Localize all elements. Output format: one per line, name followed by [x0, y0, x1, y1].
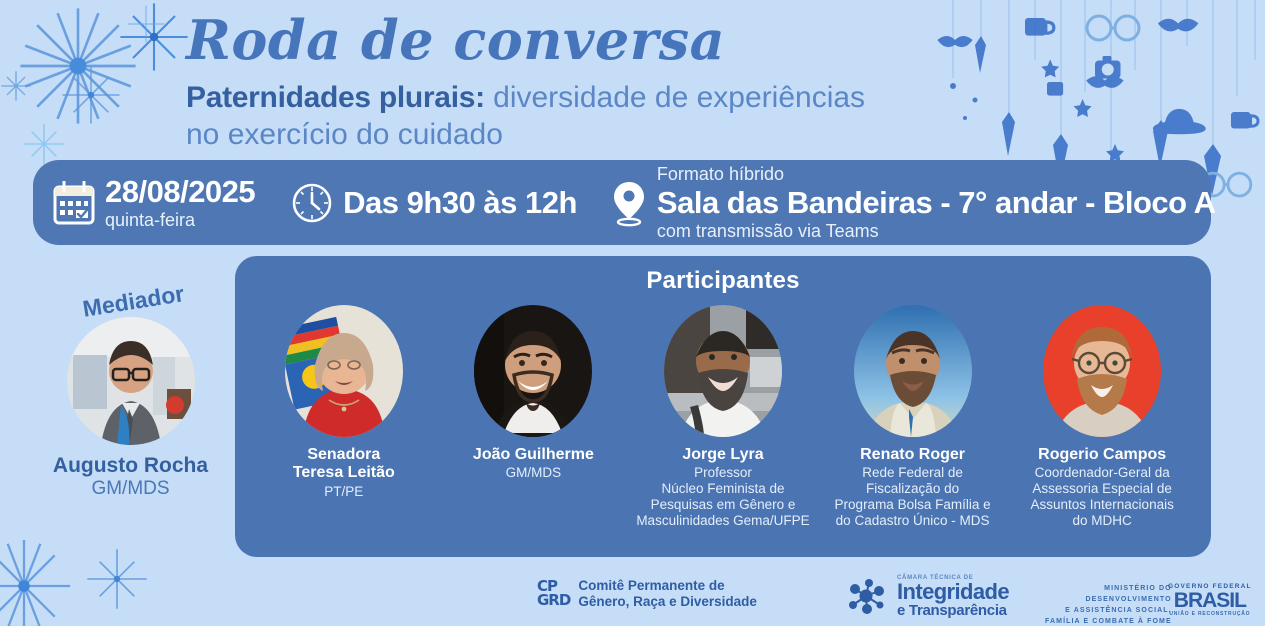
sparkle-icon [0, 538, 72, 626]
place-block: Formato híbrido Sala das Bandeiras - 7° … [611, 164, 1216, 242]
logo-integridade: CÂMARA TÉCNICA DE Integridade e Transpar… [845, 575, 1009, 618]
logo-ministerio: MINISTÉRIO DO DESENVOLVIMENTO E ASSISTÊN… [1045, 584, 1172, 626]
event-info-bar: 28/08/2025 quinta-feira Das 9h30 às 12h [33, 160, 1211, 245]
mustache-icon [937, 36, 972, 47]
event-broadcast: com transmissão via Teams [657, 221, 1216, 242]
mustache-icon [1158, 19, 1199, 32]
sparkle-icon [18, 6, 138, 126]
subtitle-rest: diversidade de experiências [485, 81, 865, 114]
date-block: 28/08/2025 quinta-feira [53, 174, 255, 231]
star-icon [1041, 59, 1059, 77]
logo-cpgrd: CP GRD Comitê Permanente de Gênero, Raça… [537, 578, 757, 610]
participant-name: Renato Roger [823, 446, 1003, 464]
calendar-icon [53, 181, 95, 225]
event-date: 28/08/2025 [105, 174, 255, 210]
mediator-role: GM/MDS [28, 478, 233, 500]
mug-icon [1025, 18, 1054, 36]
cpgrd-text: Comitê Permanente de Gênero, Raça e Dive… [578, 578, 757, 610]
star-icon [1074, 99, 1092, 117]
participant-card: Renato Roger Rede Federal deFiscalização… [823, 305, 1003, 529]
mediator-name: Augusto Rocha [28, 454, 233, 478]
participant-role: Rede Federal deFiscalização doPrograma B… [823, 465, 1003, 529]
time-block: Das 9h30 às 12h [291, 182, 577, 224]
participant-role: Coordenador-Geral daAssessoria Especial … [1012, 465, 1192, 529]
brasil-wordmark: BRASIL [1168, 590, 1252, 611]
page-subtitle: Paternidades plurais: diversidade de exp… [186, 80, 1016, 153]
participants-panel: Participantes [235, 256, 1211, 557]
ministerio-text: MINISTÉRIO DO DESENVOLVIMENTO E ASSISTÊN… [1045, 584, 1172, 626]
tie-icon [975, 36, 986, 73]
avatar-renato-roger [854, 305, 972, 437]
sparkle-icon [86, 548, 148, 610]
participant-name: João Guilherme [443, 446, 623, 464]
mug-icon [1231, 112, 1258, 129]
network-nodes-icon [845, 577, 889, 617]
avatar-rogerio-campos [1043, 305, 1161, 437]
sparkle-icon [126, 4, 166, 44]
event-poster: Roda de conversa Paternidades plurais: d… [0, 0, 1265, 626]
subtitle-line2: no exercício do cuidado [186, 118, 503, 151]
camera-icon [1095, 56, 1121, 79]
avatar-joao-guilherme [474, 305, 592, 437]
ministerio-line2: DESENVOLVIMENTO [1045, 595, 1172, 606]
participant-name: SenadoraTeresa Leitão [254, 446, 434, 483]
brasil-bottom: UNIÃO E RECONSTRUÇÃO [1168, 611, 1252, 617]
ministerio-line3: E ASSISTÊNCIA SOCIAL, [1045, 606, 1172, 617]
event-place: Sala das Bandeiras - 7° andar - Bloco A [657, 185, 1216, 221]
participants-title: Participantes [235, 256, 1211, 295]
ministerio-line4: FAMÍLIA E COMBATE À FOME [1045, 617, 1172, 626]
page-title: Roda de conversa [186, 8, 725, 72]
cpgrd-monogram-line2: GRD [537, 594, 570, 608]
participant-role: ProfessorNúcleo Feminista dePesquisas em… [633, 465, 813, 529]
integridade-line1: Integridade [897, 581, 1009, 603]
event-time: Das 9h30 às 12h [343, 185, 577, 221]
participant-card: SenadoraTeresa Leitão PT/PE [254, 305, 434, 529]
event-weekday: quinta-feira [105, 210, 255, 231]
sparkle-icon [119, 2, 189, 72]
subtitle-bold: Paternidades plurais: [186, 81, 485, 114]
cpgrd-text-line1: Comitê Permanente de [578, 578, 757, 594]
mug-icon [1047, 82, 1063, 96]
logo-brasil: GOVERNO FEDERAL BRASIL UNIÃO E RECONSTRU… [1168, 583, 1252, 617]
location-pin-icon [611, 179, 647, 227]
mediator-block: Mediador Augusto Rocha GM/MDS [28, 288, 233, 500]
participant-role: PT/PE [254, 484, 434, 500]
participant-name: Rogerio Campos [1012, 446, 1192, 464]
participant-card: Rogerio Campos Coordenador-Geral daAsses… [1012, 305, 1192, 529]
integridade-text: CÂMARA TÉCNICA DE Integridade e Transpar… [897, 575, 1009, 618]
ministerio-line1: MINISTÉRIO DO [1045, 584, 1172, 595]
cpgrd-monogram: CP GRD [537, 580, 570, 608]
sparkle-icon [0, 70, 32, 102]
participant-card: Jorge Lyra ProfessorNúcleo Feminista deP… [633, 305, 813, 529]
brasil-text: GOVERNO FEDERAL BRASIL UNIÃO E RECONSTRU… [1168, 583, 1252, 617]
glasses-icon [1087, 16, 1139, 40]
participant-card: João Guilherme GM/MDS [443, 305, 623, 529]
avatar-teresa-leitao [285, 305, 403, 437]
participant-role: GM/MDS [443, 465, 623, 481]
avatar-augusto-rocha [67, 317, 195, 445]
cpgrd-text-line2: Gênero, Raça e Diversidade [578, 594, 757, 610]
participants-list: SenadoraTeresa Leitão PT/PE [235, 295, 1211, 529]
participant-name: Jorge Lyra [633, 446, 813, 464]
event-format: Formato híbrido [657, 164, 1216, 185]
clock-icon [291, 182, 333, 224]
sparkle-icon [60, 64, 122, 126]
integridade-line2: e Transparência [897, 603, 1009, 618]
avatar-jorge-lyra [664, 305, 782, 437]
